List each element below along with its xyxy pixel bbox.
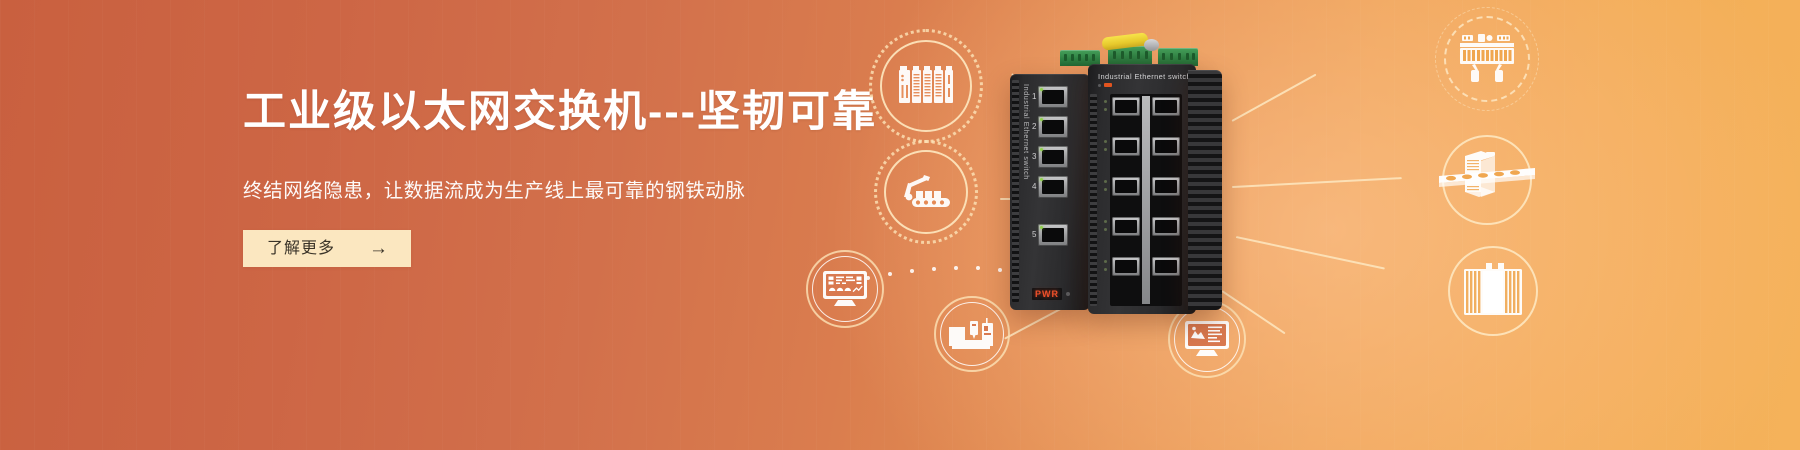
rj45-port-upper-4[interactable] xyxy=(1112,217,1140,236)
badge-server-cabinet xyxy=(1448,246,1538,336)
industrial-ethernet-switch: Industrial Ethernet switch 1 2 3 4 5 PWR… xyxy=(998,28,1228,328)
arrow-right-icon: → xyxy=(369,239,389,258)
connector-line-server xyxy=(1236,236,1385,270)
status-led xyxy=(1104,83,1112,87)
learn-more-label: 了解更多 xyxy=(267,241,335,257)
link-led-6 xyxy=(1104,180,1107,183)
link-led-9 xyxy=(1104,108,1107,111)
rj45-port-upper-10[interactable] xyxy=(1112,97,1140,116)
switch-right-module: Industrial Ethernet switch xyxy=(1088,64,1196,314)
rj45-port-upper-2[interactable] xyxy=(1112,257,1140,276)
port-cage-divider xyxy=(1142,96,1150,304)
link-led-4 xyxy=(1104,220,1107,223)
port-led-4 xyxy=(1040,178,1043,181)
rj45-port-upper-6[interactable] xyxy=(1112,177,1140,196)
wire-terminal-cap xyxy=(1144,39,1159,51)
port-number-5: 5 xyxy=(1032,230,1036,239)
badge-plc-rack xyxy=(880,40,972,132)
power-status-dot xyxy=(1066,292,1070,296)
learn-more-button[interactable]: 了解更多 → xyxy=(243,230,411,267)
plc-rack-icon xyxy=(898,66,954,106)
heatsink-fins xyxy=(1188,70,1222,310)
rj45-port-upper-5[interactable] xyxy=(1152,177,1180,196)
link-led-1 xyxy=(1104,268,1107,271)
connector-line-dinrail xyxy=(1232,177,1402,188)
rj45-port-upper-1[interactable] xyxy=(1152,257,1180,276)
rj45-port-upper-7[interactable] xyxy=(1152,137,1180,156)
link-led-2 xyxy=(1104,260,1107,263)
port-led-2 xyxy=(1040,118,1043,121)
din-rail-icon xyxy=(1437,146,1537,214)
device-vertical-label: Industrial Ethernet switch xyxy=(1022,84,1031,180)
port-led-5 xyxy=(1040,226,1043,229)
badge-scada-monitor xyxy=(806,250,884,328)
connector-line-panel xyxy=(1232,74,1317,122)
port-number-1: 1 xyxy=(1032,92,1036,101)
link-led-8 xyxy=(1104,140,1107,143)
port-led-1 xyxy=(1040,88,1043,91)
scada-monitor-icon xyxy=(822,270,868,308)
badge-robot-conveyor xyxy=(884,150,968,234)
badge-din-rail xyxy=(1442,135,1532,225)
link-led-5 xyxy=(1104,188,1107,191)
link-led-10 xyxy=(1104,100,1107,103)
port-number-3: 3 xyxy=(1032,152,1036,161)
server-cabinet-icon xyxy=(1462,263,1524,319)
port-number-4: 4 xyxy=(1032,182,1036,191)
vent-grill-right xyxy=(1090,94,1097,306)
switch-left-module: Industrial Ethernet switch 1 2 3 4 5 PWR xyxy=(1010,74,1090,310)
rj45-port-upper-9[interactable] xyxy=(1152,97,1180,116)
port-number-2: 2 xyxy=(1032,122,1036,131)
status-dot xyxy=(1098,84,1101,87)
port-led-3 xyxy=(1040,148,1043,151)
vent-grill-left xyxy=(1012,80,1019,302)
cnc-machine-icon xyxy=(948,315,996,353)
rj45-port-upper-8[interactable] xyxy=(1112,137,1140,156)
hero-banner: 工业级以太网交换机---坚韧可靠 终结网络隐患，让数据流成为生产线上最可靠的钢铁… xyxy=(0,0,1800,450)
link-led-3 xyxy=(1104,228,1107,231)
robot-conveyor-icon xyxy=(898,171,954,213)
link-led-7 xyxy=(1104,148,1107,151)
rj45-port-upper-3[interactable] xyxy=(1152,217,1180,236)
control-panel-icon xyxy=(1458,34,1516,84)
badge-control-panel xyxy=(1444,16,1530,102)
device-horizontal-label: Industrial Ethernet switch xyxy=(1098,72,1191,81)
power-indicator-label: PWR xyxy=(1032,288,1062,300)
